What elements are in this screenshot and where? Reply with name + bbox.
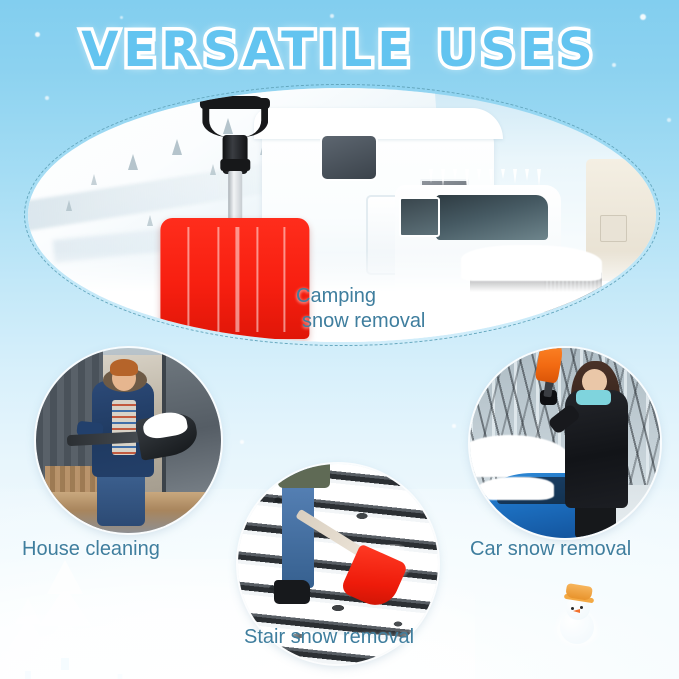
shovel-blade bbox=[161, 218, 310, 340]
circle-image-house-cleaning[interactable] bbox=[36, 348, 221, 533]
pine-tree-icon bbox=[96, 612, 144, 679]
pine-tree-icon bbox=[91, 174, 97, 185]
hero-caption-line2: snow removal bbox=[296, 309, 526, 334]
hero-caption-line1: Camping bbox=[296, 284, 526, 309]
teal-scarf bbox=[576, 390, 610, 405]
snow-on-car bbox=[478, 477, 554, 500]
rv-mirror bbox=[600, 215, 627, 242]
snowman-carrot-nose bbox=[573, 609, 580, 613]
rv-windshield bbox=[436, 195, 548, 241]
shovel-collar-lock bbox=[221, 159, 250, 171]
pine-tree-icon bbox=[147, 215, 153, 226]
pine-tree-icon bbox=[128, 154, 138, 170]
hero-caption: Camping snow removal bbox=[296, 284, 526, 334]
pine-tree-icon bbox=[66, 200, 72, 211]
shovel-grip-bar bbox=[200, 98, 270, 109]
circle-image-car-snow-removal[interactable] bbox=[470, 348, 660, 538]
snowflake-icon bbox=[640, 14, 646, 20]
infographic-canvas: VERSATILE USES bbox=[0, 0, 679, 679]
caption-house-cleaning: House cleaning bbox=[22, 538, 160, 561]
icicles-icon bbox=[424, 169, 557, 199]
pine-tree-icon bbox=[0, 598, 56, 679]
car-snow-scene bbox=[470, 348, 660, 538]
snowflake-icon bbox=[330, 14, 334, 18]
rv-door-window bbox=[399, 197, 440, 237]
snowflake-icon bbox=[240, 440, 244, 444]
snowman-eye bbox=[580, 606, 583, 609]
snowflake-icon bbox=[452, 424, 456, 428]
snowman-icon bbox=[556, 586, 602, 646]
house-cleaning-scene bbox=[36, 348, 221, 533]
caption-stair-snow-removal: Stair snow removal bbox=[244, 626, 414, 649]
person-hair bbox=[110, 359, 138, 376]
person-boot bbox=[274, 580, 310, 604]
rv-window-upper bbox=[320, 134, 378, 181]
caption-car-snow-removal: Car snow removal bbox=[470, 538, 631, 561]
page-title: VERSATILE USES bbox=[0, 22, 679, 78]
person-coat bbox=[278, 464, 330, 488]
snowflake-icon bbox=[120, 16, 123, 19]
snow-shovel-product bbox=[179, 96, 292, 340]
person-sweater bbox=[112, 400, 136, 456]
snowflake-icon bbox=[667, 118, 671, 122]
